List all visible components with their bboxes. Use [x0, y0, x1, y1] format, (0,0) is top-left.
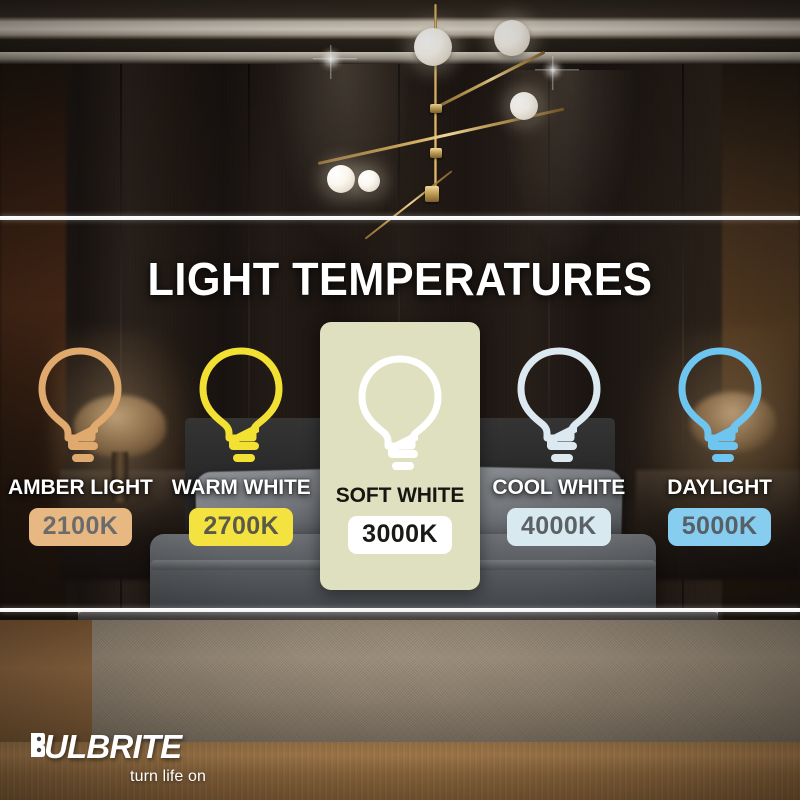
temperature-label: SOFT WHITE: [336, 484, 465, 508]
chandelier-globe: [414, 28, 452, 66]
temperature-card-daylight[interactable]: DAYLIGHT 5000K: [639, 322, 800, 590]
bulb-icon: [507, 344, 611, 470]
temperature-scale: AMBER LIGHT 2100K WARM WHITE 2700K SOFT …: [0, 322, 800, 590]
logo-tagline: turn life on: [30, 768, 260, 786]
temperature-card-warm-white[interactable]: WARM WHITE 2700K: [161, 322, 322, 590]
temperature-label: COOL WHITE: [492, 476, 625, 500]
chandelier-globe: [494, 20, 530, 56]
divider-top: [0, 216, 800, 220]
page-title: LIGHT TEMPERATURES: [24, 252, 776, 306]
temperature-label: AMBER LIGHT: [8, 476, 153, 500]
bulb-icon: [189, 344, 293, 470]
chandelier-joint: [430, 104, 442, 113]
chandelier-globe: [327, 165, 355, 193]
temperature-card-soft-white[interactable]: SOFT WHITE 3000K: [320, 322, 481, 590]
chandelier-globe: [358, 170, 380, 192]
temperature-label: DAYLIGHT: [667, 476, 772, 500]
temperature-label: WARM WHITE: [172, 476, 311, 500]
bulb-icon: [348, 352, 452, 478]
temperature-card-cool-white[interactable]: COOL WHITE 4000K: [478, 322, 639, 590]
kelvin-badge: 5000K: [668, 508, 772, 546]
brand-logo: ULBRITE turn life on: [30, 730, 260, 786]
left-floor-wood: [0, 620, 92, 742]
kelvin-badge: 2100K: [29, 508, 133, 546]
temperature-card-amber-light[interactable]: AMBER LIGHT 2100K: [0, 322, 161, 590]
bulb-icon: [668, 344, 772, 470]
bulb-icon: [28, 344, 132, 470]
kelvin-badge: 2700K: [189, 508, 293, 546]
sputnik-chandelier: [0, 0, 800, 220]
logo-text: ULBRITE: [44, 730, 181, 763]
bulbrite-b-icon: [30, 732, 45, 758]
chandelier-joint: [430, 148, 442, 158]
divider-bottom: [0, 608, 800, 612]
kelvin-badge: 3000K: [348, 516, 452, 554]
logo-wordmark: ULBRITE: [30, 730, 260, 763]
chandelier-finial: [425, 186, 439, 202]
infographic-canvas: LIGHT TEMPERATURES AMBER LIGHT 2100K WAR…: [0, 0, 800, 800]
kelvin-badge: 4000K: [507, 508, 611, 546]
chandelier-globe: [510, 92, 538, 120]
